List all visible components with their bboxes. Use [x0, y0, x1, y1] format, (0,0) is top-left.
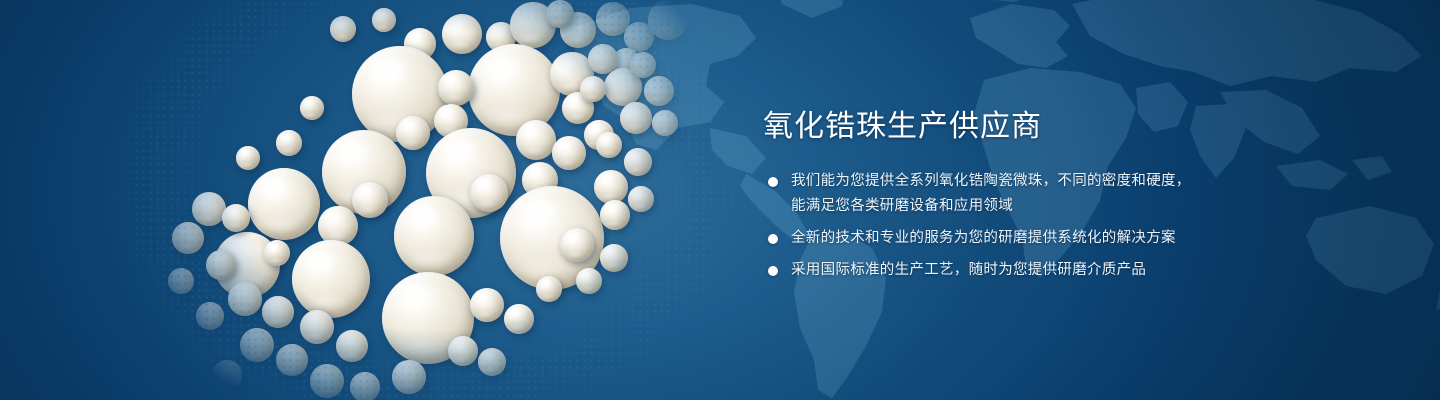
- bullet-dot-icon: [768, 177, 778, 187]
- banner-copy: 氧化锆珠生产供应商 我们能为您提供全系列氧化锆陶瓷微珠，不同的密度和硬度， 能满…: [763, 108, 1263, 290]
- list-item: 我们能为您提供全系列氧化锆陶瓷微珠，不同的密度和硬度， 能满足您各类研磨设备和应…: [763, 169, 1263, 219]
- bullet-dot-icon: [768, 234, 778, 244]
- bullet-dot-icon: [768, 266, 778, 276]
- list-item-line-2: 能满足您各类研磨设备和应用领域: [791, 194, 1263, 219]
- feature-list: 我们能为您提供全系列氧化锆陶瓷微珠，不同的密度和硬度， 能满足您各类研磨设备和应…: [763, 169, 1263, 283]
- list-item: 采用国际标准的生产工艺，随时为您提供研磨介质产品: [763, 258, 1263, 283]
- list-item-line-1: 我们能为您提供全系列氧化锆陶瓷微珠，不同的密度和硬度，: [791, 173, 1191, 189]
- page-title: 氧化锆珠生产供应商: [763, 108, 1263, 146]
- list-item-line-1: 全新的技术和专业的服务为您的研磨提供系统化的解决方案: [791, 230, 1176, 246]
- list-item-line-1: 采用国际标准的生产工艺，随时为您提供研磨介质产品: [791, 262, 1146, 278]
- hero-banner: 氧化锆珠生产供应商 我们能为您提供全系列氧化锆陶瓷微珠，不同的密度和硬度， 能满…: [0, 0, 1440, 400]
- list-item: 全新的技术和专业的服务为您的研磨提供系统化的解决方案: [763, 226, 1263, 251]
